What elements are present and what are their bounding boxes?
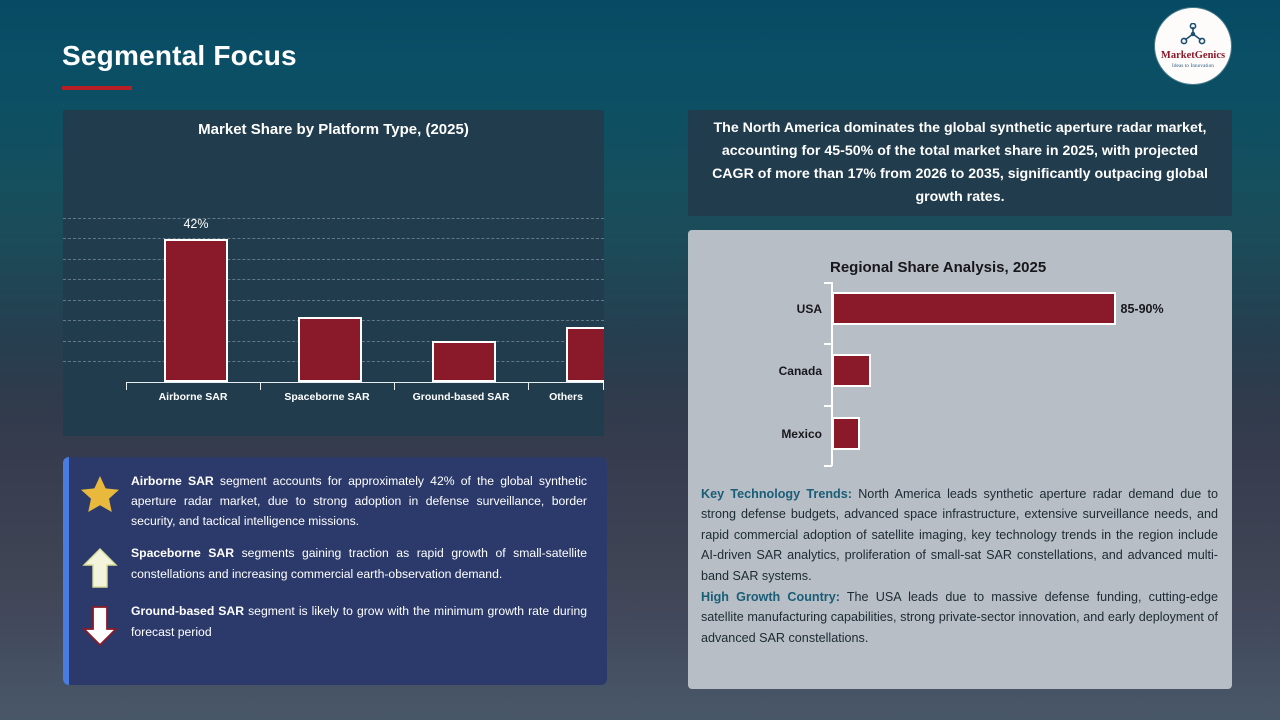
bar-value-label: 42%: [183, 217, 208, 231]
axis-label-spaceborne-sar: Spaceborne SAR: [260, 391, 394, 403]
insight-text-spaceborne: Spaceborne SAR segments gaining traction…: [131, 543, 595, 583]
bar-airborne-sar[interactable]: 42%: [164, 239, 228, 383]
logo-marketgenics: MarketGenics Ideas to Innovation: [1155, 8, 1231, 84]
region-callout-box: The North America dominates the global s…: [688, 110, 1232, 216]
regional-notes: Key Technology Trends: North America lea…: [688, 484, 1232, 649]
insight-text-ground-based: Ground-based SAR segment is likely to gr…: [131, 601, 595, 641]
logo-brand-name: MarketGenics: [1161, 51, 1225, 62]
bar-canada[interactable]: Canada: [832, 354, 871, 387]
platform-share-chart-panel: Market Share by Platform Type, (2025) 42…: [63, 110, 604, 436]
insight-lead: Ground-based SAR: [131, 604, 244, 618]
bar-ground-based-sar[interactable]: [432, 341, 496, 382]
arrow-up-icon: [69, 543, 131, 589]
note-high-growth-country: High Growth Country: The USA leads due t…: [701, 587, 1218, 648]
axis-label-airborne-sar: Airborne SAR: [126, 391, 260, 403]
axis-label-others: Others: [528, 391, 604, 403]
regional-analysis-panel: Regional Share Analysis, 2025 USA 85-90%…: [688, 230, 1232, 689]
bar-label-canada: Canada: [779, 364, 822, 378]
chart-x-axis: [126, 382, 604, 383]
bar-label-mexico: Mexico: [781, 427, 822, 441]
region-callout-text: The North America dominates the global s…: [700, 117, 1220, 209]
insight-text-airborne: Airborne SAR segment accounts for approx…: [131, 471, 595, 531]
axis-label-ground-based-sar: Ground-based SAR: [394, 391, 528, 403]
bar-others[interactable]: [566, 327, 604, 382]
bar-mexico[interactable]: Mexico: [832, 417, 860, 450]
insight-lead: Spaceborne SAR: [131, 546, 234, 560]
note-key-technology-trends: Key Technology Trends: North America lea…: [701, 484, 1218, 586]
network-nodes-icon: [1180, 23, 1206, 50]
bar-usa[interactable]: USA 85-90%: [832, 292, 1116, 325]
list-item: Ground-based SAR segment is likely to gr…: [69, 601, 595, 647]
title-accent-underline: [62, 86, 132, 90]
page-title: Segmental Focus: [62, 40, 297, 72]
note-lead: High Growth Country:: [701, 590, 840, 604]
list-item: Airborne SAR segment accounts for approx…: [69, 471, 595, 531]
insight-lead: Airborne SAR: [131, 474, 214, 488]
bar-spaceborne-sar[interactable]: [298, 317, 362, 382]
star-icon: [69, 471, 131, 513]
bar-value-usa: 85-90%: [1121, 302, 1164, 316]
list-item: Spaceborne SAR segments gaining traction…: [69, 543, 595, 589]
segment-insights-panel: Airborne SAR segment accounts for approx…: [63, 457, 607, 685]
bar-label-usa: USA: [797, 302, 822, 316]
note-lead: Key Technology Trends:: [701, 487, 852, 501]
regional-chart-title: Regional Share Analysis, 2025: [830, 259, 1046, 276]
platform-chart-plot: 42%: [63, 218, 604, 382]
regional-share-chart: Regional Share Analysis, 2025 USA 85-90%…: [688, 230, 1232, 475]
logo-tagline: Ideas to Innovation: [1172, 63, 1214, 69]
note-body: North America leads synthetic aperture r…: [701, 487, 1218, 583]
arrow-down-icon: [69, 601, 131, 647]
